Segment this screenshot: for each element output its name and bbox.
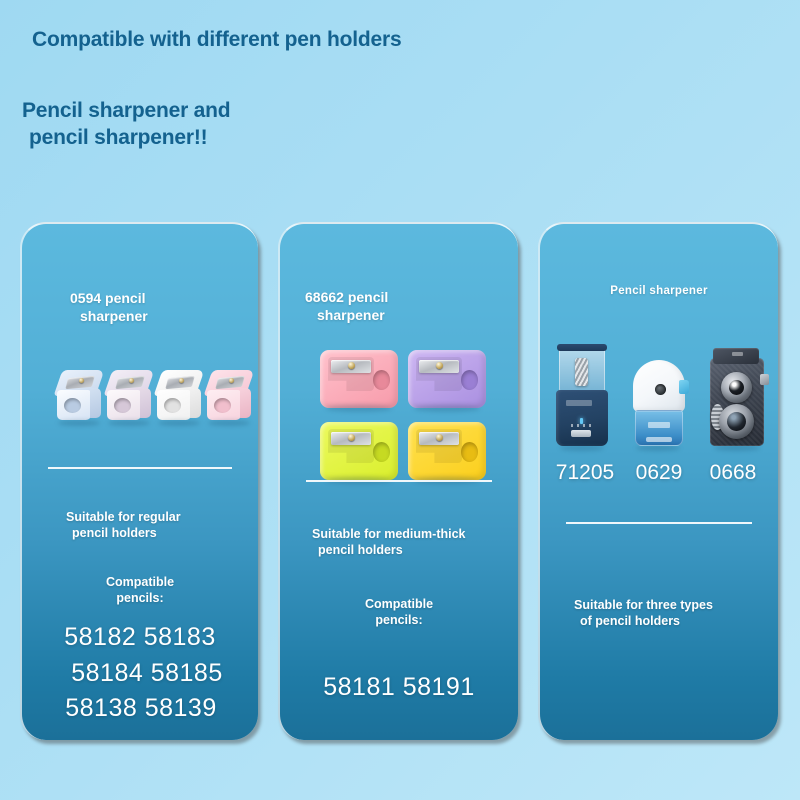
product-image-group-machines (554, 344, 766, 448)
compatible-label-68662-line-1: Compatible (365, 597, 433, 611)
card-divider-machines (566, 522, 752, 524)
sharpener-pink-icon (320, 350, 398, 408)
product-image-group-68662 (320, 350, 486, 480)
card-title-0594-line-2: sharpener (70, 308, 148, 326)
card-title-0594: 0594 pencil sharpener (70, 290, 148, 325)
sharpener-lime-icon (320, 422, 398, 480)
compatible-label-0594-line-1: Compatible (106, 575, 174, 589)
suitability-text-68662-line-2: pencil holders (312, 542, 466, 558)
compatible-label-0594: Compatible pencils: (22, 574, 258, 607)
manual-sharpener-light-blue-icon (56, 364, 102, 424)
code-row: 58181 58191 (280, 670, 518, 706)
product-image-group-0594 (56, 364, 252, 424)
card-divider-0594 (48, 467, 232, 469)
card-title-68662-line-1: 68662 pencil (305, 289, 388, 305)
suitability-text-0594-line-1: Suitable for regular (66, 510, 181, 524)
page-subtitle: Pencil sharpener and pencil sharpener!! (22, 98, 230, 152)
compatible-label-68662: Compatible pencils: (280, 596, 518, 629)
card-title-0594-line-1: 0594 pencil (70, 290, 146, 306)
compatible-codes-68662: 58181 58191 (280, 670, 518, 706)
code-row: 58138 58139 (22, 691, 258, 727)
page-title: Compatible with different pen holders (32, 28, 401, 52)
suitability-text-machines: Suitable for three types of pencil holde… (574, 597, 713, 630)
suitability-text-68662-line-1: Suitable for medium-thick (312, 527, 466, 541)
camera-shaped-sharpener-dark-grey-icon (708, 344, 766, 448)
page-subtitle-line-1: Pencil sharpener and (22, 99, 230, 122)
product-card-machines[interactable]: Pencil sharpener 71205 0629 0668 (538, 222, 778, 740)
product-label-0629: 0629 (622, 461, 696, 485)
card-title-machines: Pencil sharpener (540, 284, 778, 298)
card-title-68662-line-2: sharpener (305, 307, 388, 325)
compatible-label-68662-line-2: pencils: (280, 612, 518, 628)
product-card-0594[interactable]: 0594 pencil sharpener Suitable f (20, 222, 258, 740)
card-title-68662: 68662 pencil sharpener (305, 289, 388, 324)
card-divider-68662 (306, 480, 492, 482)
suitability-text-machines-line-1: Suitable for three types (574, 598, 713, 612)
product-label-0668: 0668 (696, 461, 770, 485)
page-subtitle-line-2: pencil sharpener!! (22, 125, 230, 152)
manual-sharpener-lilac-white-icon (106, 364, 152, 424)
suitability-text-machines-line-2: of pencil holders (574, 613, 713, 629)
manual-sharpener-white-icon (156, 364, 202, 424)
compatible-label-0594-line-2: pencils: (22, 590, 258, 606)
sharpener-purple-icon (408, 350, 486, 408)
product-card-list: 0594 pencil sharpener Suitable f (0, 222, 800, 742)
product-card-68662[interactable]: 68662 pencil sharpener Suitable for medi… (278, 222, 518, 740)
sharpener-yellow-icon (408, 422, 486, 480)
compatible-codes-0594: 58182 58183 58184 58185 58138 58139 (22, 620, 258, 727)
code-row: 58184 58185 (22, 656, 258, 692)
manual-sharpener-pink-icon (206, 364, 252, 424)
electric-sharpener-navy-icon (554, 344, 610, 448)
code-row: 58182 58183 (22, 620, 258, 656)
suitability-text-0594: Suitable for regular pencil holders (66, 509, 181, 542)
suitability-text-68662: Suitable for medium-thick pencil holders (312, 526, 466, 559)
product-label-71205: 71205 (548, 461, 622, 485)
hand-crank-sharpener-white-blue-icon (630, 344, 688, 448)
product-label-row-machines: 71205 0629 0668 (548, 461, 770, 485)
suitability-text-0594-line-2: pencil holders (66, 525, 181, 541)
